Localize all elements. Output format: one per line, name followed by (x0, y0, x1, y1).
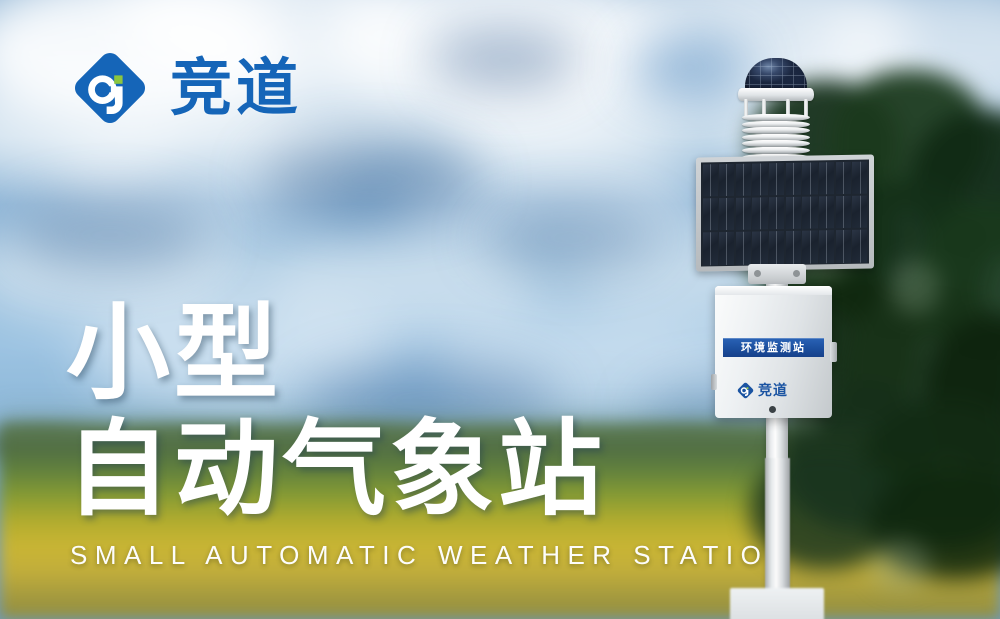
control-box-lid (715, 286, 832, 295)
product-hero-banner: 竞道 小型 自动气象站 SMALL AUTOMATIC WEATHER STAT… (0, 0, 1000, 619)
solar-panel-bracket (748, 264, 806, 284)
jingdao-diamond-logo-icon (737, 382, 754, 399)
jingdao-diamond-logo-icon (68, 46, 152, 130)
solar-panel-icon (696, 154, 874, 271)
control-box-banner-label: 环境监测站 (741, 342, 806, 353)
weather-station-product: 环境监测站 竞道 (690, 28, 880, 619)
control-box: 环境监测站 竞道 (715, 286, 832, 418)
page-title: 小型 自动气象站 (66, 300, 606, 522)
headline-line-2: 自动气象站 (66, 416, 606, 522)
brand-name: 竞道 (170, 57, 302, 119)
control-box-screw (769, 406, 776, 413)
headline-subtitle: SMALL AUTOMATIC WEATHER STATION (70, 540, 795, 571)
pole-base (730, 588, 824, 619)
headline-line-1: 小型 (66, 300, 606, 406)
control-box-brand-name: 竞道 (758, 384, 788, 398)
control-box-brand: 竞道 (737, 382, 788, 399)
ultrasonic-weather-sensor-icon (745, 58, 807, 92)
brand-logo: 竞道 (68, 46, 302, 130)
control-box-hinge (711, 374, 717, 390)
control-box-banner: 环境监测站 (723, 338, 824, 357)
control-box-latch (830, 342, 837, 362)
